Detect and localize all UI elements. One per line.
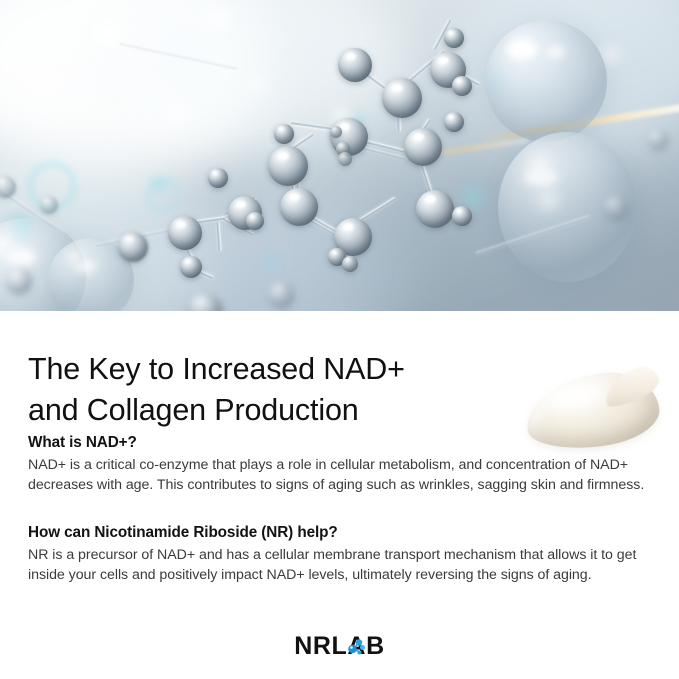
molecule-atom [0, 176, 16, 198]
molecule-atom [40, 196, 58, 214]
section-heading: What is NAD+? [28, 434, 646, 452]
molecule-atom [246, 212, 264, 230]
molecule-atom [444, 28, 464, 48]
brand-logo-inner: NRLAB [294, 632, 385, 661]
molecule-atom [416, 190, 454, 228]
molecule-atom [604, 196, 628, 220]
blue-molecule-icon [346, 636, 366, 656]
sphere-highlight [74, 260, 96, 273]
page-title: The Key to Increased NAD+ and Collagen P… [28, 349, 548, 430]
brand-logo-text: NRLAB [294, 632, 385, 660]
molecule-atom [452, 76, 472, 96]
foreground-sphere [485, 20, 607, 142]
bokeh-fleck [200, 4, 234, 30]
molecule-atom [180, 256, 202, 278]
molecule-atom [338, 48, 372, 82]
molecule-atom [330, 126, 342, 138]
molecule-atom [338, 152, 352, 166]
molecule-atom [280, 188, 318, 226]
molecule-atom [208, 168, 228, 188]
section-body: NR is a precursor of NAD+ and has a cell… [28, 545, 646, 586]
molecule-bond [120, 42, 238, 70]
molecule-atom [648, 130, 668, 150]
section-body: NAD+ is a critical co-enzyme that plays … [28, 455, 646, 496]
bokeh-fleck [166, 102, 190, 126]
molecule-atom [274, 124, 294, 144]
molecule-atom [268, 146, 308, 186]
bokeh-fleck [262, 252, 280, 270]
content-panel: The Key to Increased NAD+ and Collagen P… [0, 311, 679, 679]
bokeh-fleck [246, 74, 266, 94]
molecule-atom [342, 256, 358, 272]
molecule-atom [404, 128, 442, 166]
sphere-highlight [507, 42, 537, 58]
molecule-atom [6, 268, 32, 294]
molecule-atom [118, 232, 148, 262]
sphere-highlight [547, 46, 565, 58]
sphere-highlight [6, 248, 36, 266]
brand-logo: NRLAB [0, 629, 679, 663]
bokeh-fleck [20, 64, 68, 98]
molecule-atom [452, 206, 472, 226]
molecule-atom [188, 294, 222, 311]
molecule-atom [382, 78, 422, 118]
molecule-atom [268, 282, 294, 308]
hero-molecule-image [0, 0, 679, 311]
molecule-bond [217, 221, 222, 251]
sphere-highlight [524, 168, 558, 186]
bokeh-ring [146, 178, 180, 212]
section-heading: How can Nicotinamide Riboside (NR) help? [28, 524, 646, 542]
molecule-atom [168, 216, 202, 250]
molecule-atom [444, 112, 464, 132]
section-what-is-nad: What is NAD+? NAD+ is a critical co-enzy… [28, 434, 646, 496]
section-how-nr-helps: How can Nicotinamide Riboside (NR) help?… [28, 524, 646, 586]
